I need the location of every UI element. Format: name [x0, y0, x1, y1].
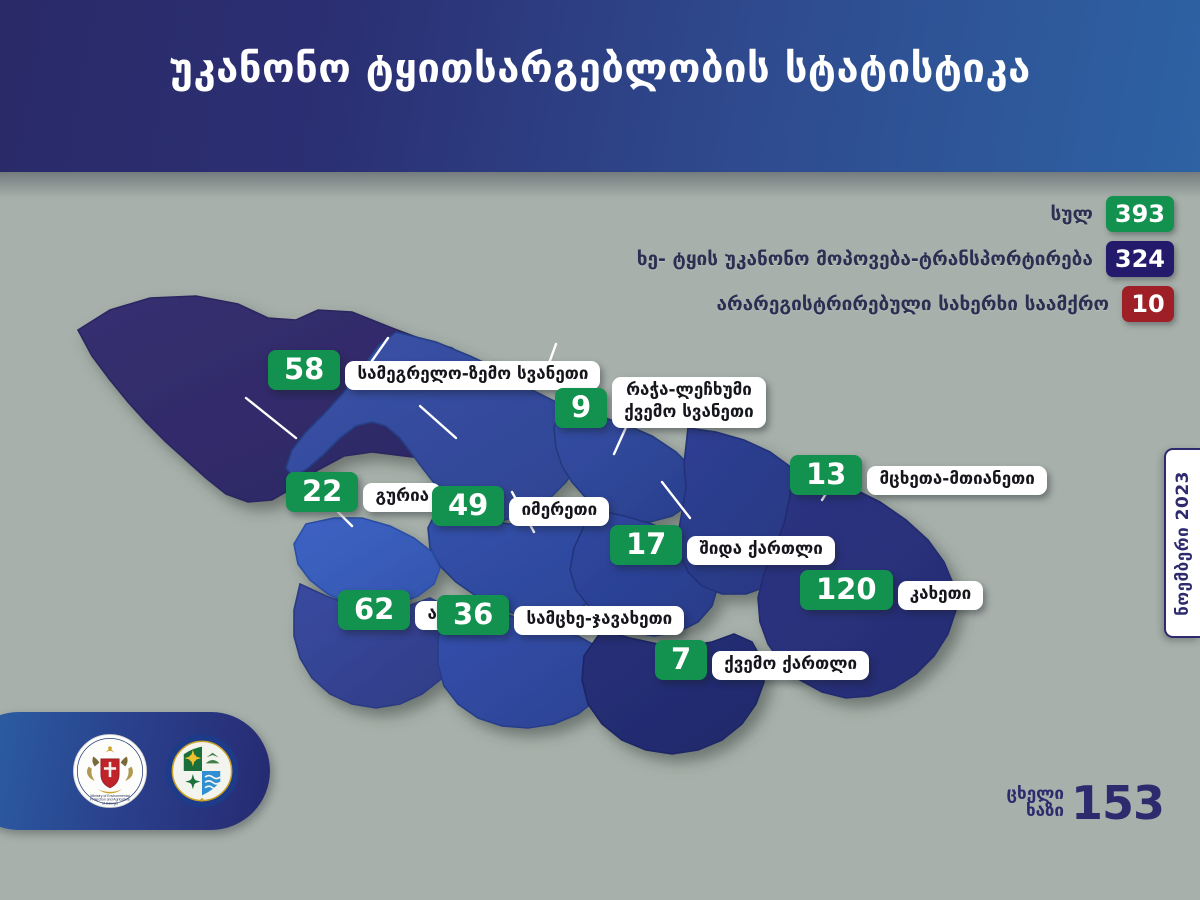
hotline-number: 153	[1071, 782, 1164, 824]
infographic-canvas: უკანონო ტყითსარგებლობის სტატისტიკა	[0, 0, 1200, 900]
legend-label: ხე- ტყის უკანონო მოპოვება-ტრანსპორტირება	[637, 248, 1093, 270]
svg-text:of Georgia: of Georgia	[102, 801, 118, 805]
legend-value-badge: 393	[1106, 196, 1174, 232]
legend-row-unregistered-sawmill: არარეგისტრირებული სახერხი საამქრო 10	[637, 286, 1174, 322]
marker-label: გურია	[363, 483, 441, 512]
marker-label: შიდა ქართლი	[687, 536, 834, 565]
header-banner: უკანონო ტყითსარგებლობის სტატისტიკა	[0, 0, 1200, 172]
marker-label: კახეთი	[898, 581, 984, 610]
date-tab: ნოემბერი 2023	[1164, 448, 1200, 638]
legend-row-illegal-logging: ხე- ტყის უკანონო მოპოვება-ტრანსპორტირება…	[637, 241, 1174, 277]
legend-label: არარეგისტრირებული სახერხი საამქრო	[717, 293, 1110, 315]
marker-value: 13	[790, 455, 862, 495]
map-marker-samegrelo: 58 სამეგრელო-ზემო სვანეთი	[268, 350, 600, 390]
marker-value: 7	[655, 640, 707, 680]
map-marker-mtskheta: 13 მცხეთა-მთიანეთი	[790, 455, 1047, 495]
ministry-emblem-icon: Ministry of Environmental Protection and…	[72, 733, 148, 809]
marker-value: 49	[432, 486, 504, 526]
legend-row-total: სულ 393	[637, 196, 1174, 232]
legend-value-badge: 10	[1122, 286, 1174, 322]
map-marker-shida-kartli: 17 შიდა ქართლი	[610, 525, 835, 565]
marker-label: იმერეთი	[509, 497, 609, 526]
legend-value-badge: 324	[1106, 241, 1174, 277]
marker-label: სამცხე-ჯავახეთი	[514, 606, 684, 635]
hotline-line-2: ხაზი	[1006, 803, 1064, 820]
legend-label: სულ	[1050, 203, 1092, 225]
marker-label: ქვემო ქართლი	[712, 651, 869, 680]
marker-label: მცხეთა-მთიანეთი	[867, 466, 1046, 495]
legend-panel: სულ 393 ხე- ტყის უკანონო მოპოვება-ტრანსპ…	[637, 196, 1174, 331]
marker-value: 36	[437, 595, 509, 635]
page-title: უკანონო ტყითსარგებლობის სტატისტიკა	[0, 46, 1200, 92]
marker-value: 58	[268, 350, 340, 390]
hotline-block: ცხელი ხაზი 153	[1006, 782, 1164, 824]
hotline-words: ცხელი ხაზი	[1006, 786, 1064, 821]
map-marker-imereti: 49 იმერეთი	[432, 486, 609, 526]
map-marker-kvemo-kartli: 7 ქვემო ქართლი	[655, 640, 869, 680]
marker-value: 120	[800, 570, 893, 610]
date-tab-label: ნოემბერი 2023	[1173, 471, 1193, 616]
marker-value: 17	[610, 525, 682, 565]
marker-value: 62	[338, 590, 410, 630]
map-marker-guria: 22 გურია	[286, 472, 441, 512]
marker-label: რაჭა-ლეჩხუმი ქვემო სვანეთი	[612, 377, 765, 428]
footer-logo-bar: Ministry of Environmental Protection and…	[0, 712, 270, 830]
marker-value: 22	[286, 472, 358, 512]
map-marker-kakheti: 120 კახეთი	[800, 570, 983, 610]
map-marker-racha: 9 რაჭა-ლეჩხუმი ქვემო სვანეთი	[555, 380, 766, 428]
map-marker-samtskhe: 36 სამცხე-ჯავახეთი	[437, 595, 684, 635]
environmental-supervision-emblem-icon	[164, 733, 240, 809]
marker-value: 9	[555, 388, 607, 428]
